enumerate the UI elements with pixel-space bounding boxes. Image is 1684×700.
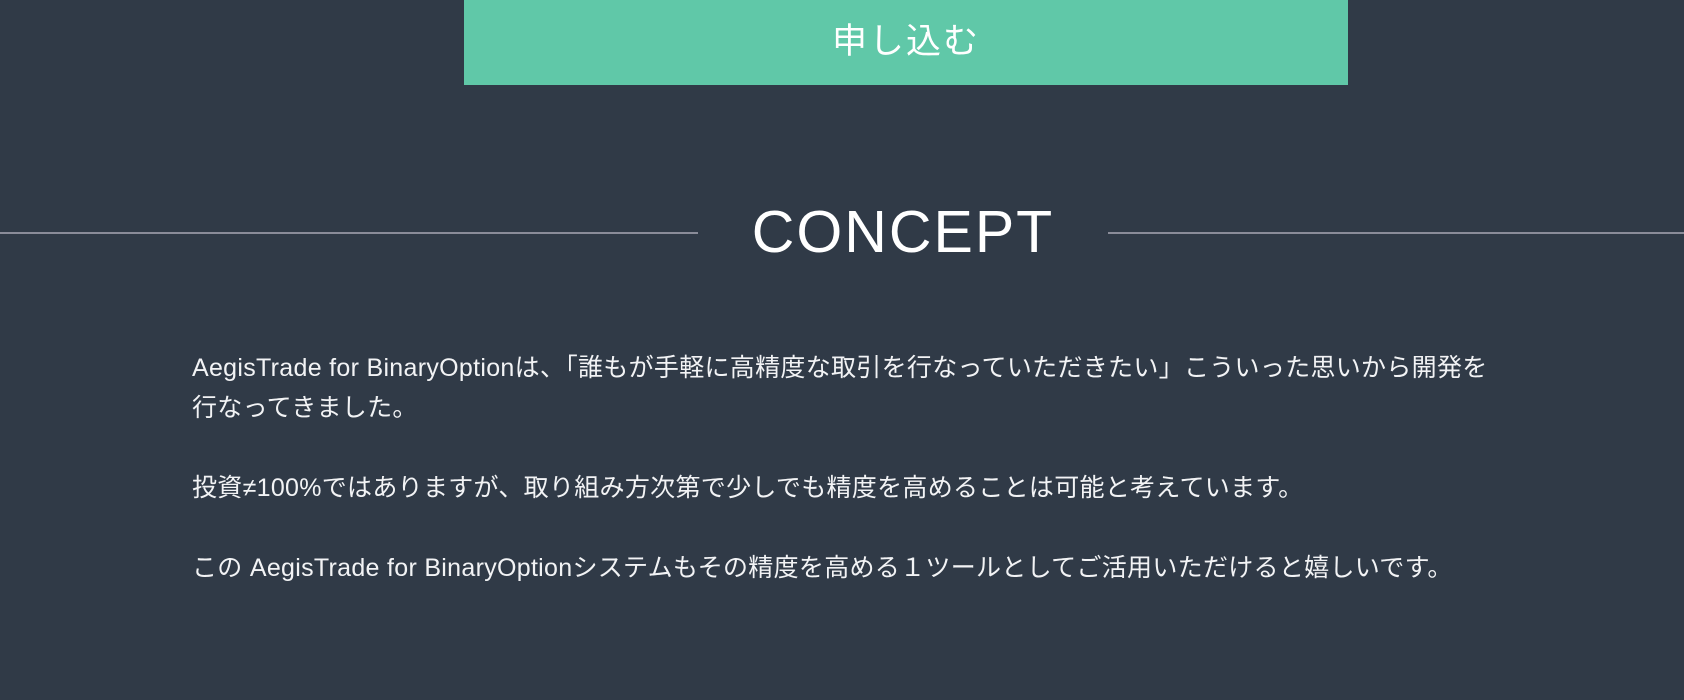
page-title: CONCEPT bbox=[698, 203, 1108, 262]
concept-paragraph-1: AegisTrade for BinaryOptionは、「誰もが手軽に高精度な… bbox=[192, 348, 1512, 428]
apply-button[interactable]: 申し込む bbox=[464, 0, 1348, 85]
heading-rule-left bbox=[0, 232, 698, 234]
apply-button-label: 申し込む bbox=[464, 0, 1348, 105]
concept-heading: CONCEPT bbox=[0, 185, 1684, 280]
concept-body-text: AegisTrade for BinaryOptionは、「誰もが手軽に高精度な… bbox=[192, 348, 1512, 588]
concept-paragraph-3: この AegisTrade for BinaryOptionシステムもその精度を… bbox=[192, 548, 1512, 588]
cta-banner: 申し込む bbox=[0, 0, 1684, 86]
concept-section-page: 申し込む CONCEPT AegisTrade for BinaryOption… bbox=[0, 0, 1684, 700]
concept-paragraph-2: 投資≠100%ではありますが、取り組み方次第で少しでも精度を高めることは可能と考… bbox=[192, 468, 1512, 508]
heading-rule-right bbox=[1108, 232, 1684, 234]
